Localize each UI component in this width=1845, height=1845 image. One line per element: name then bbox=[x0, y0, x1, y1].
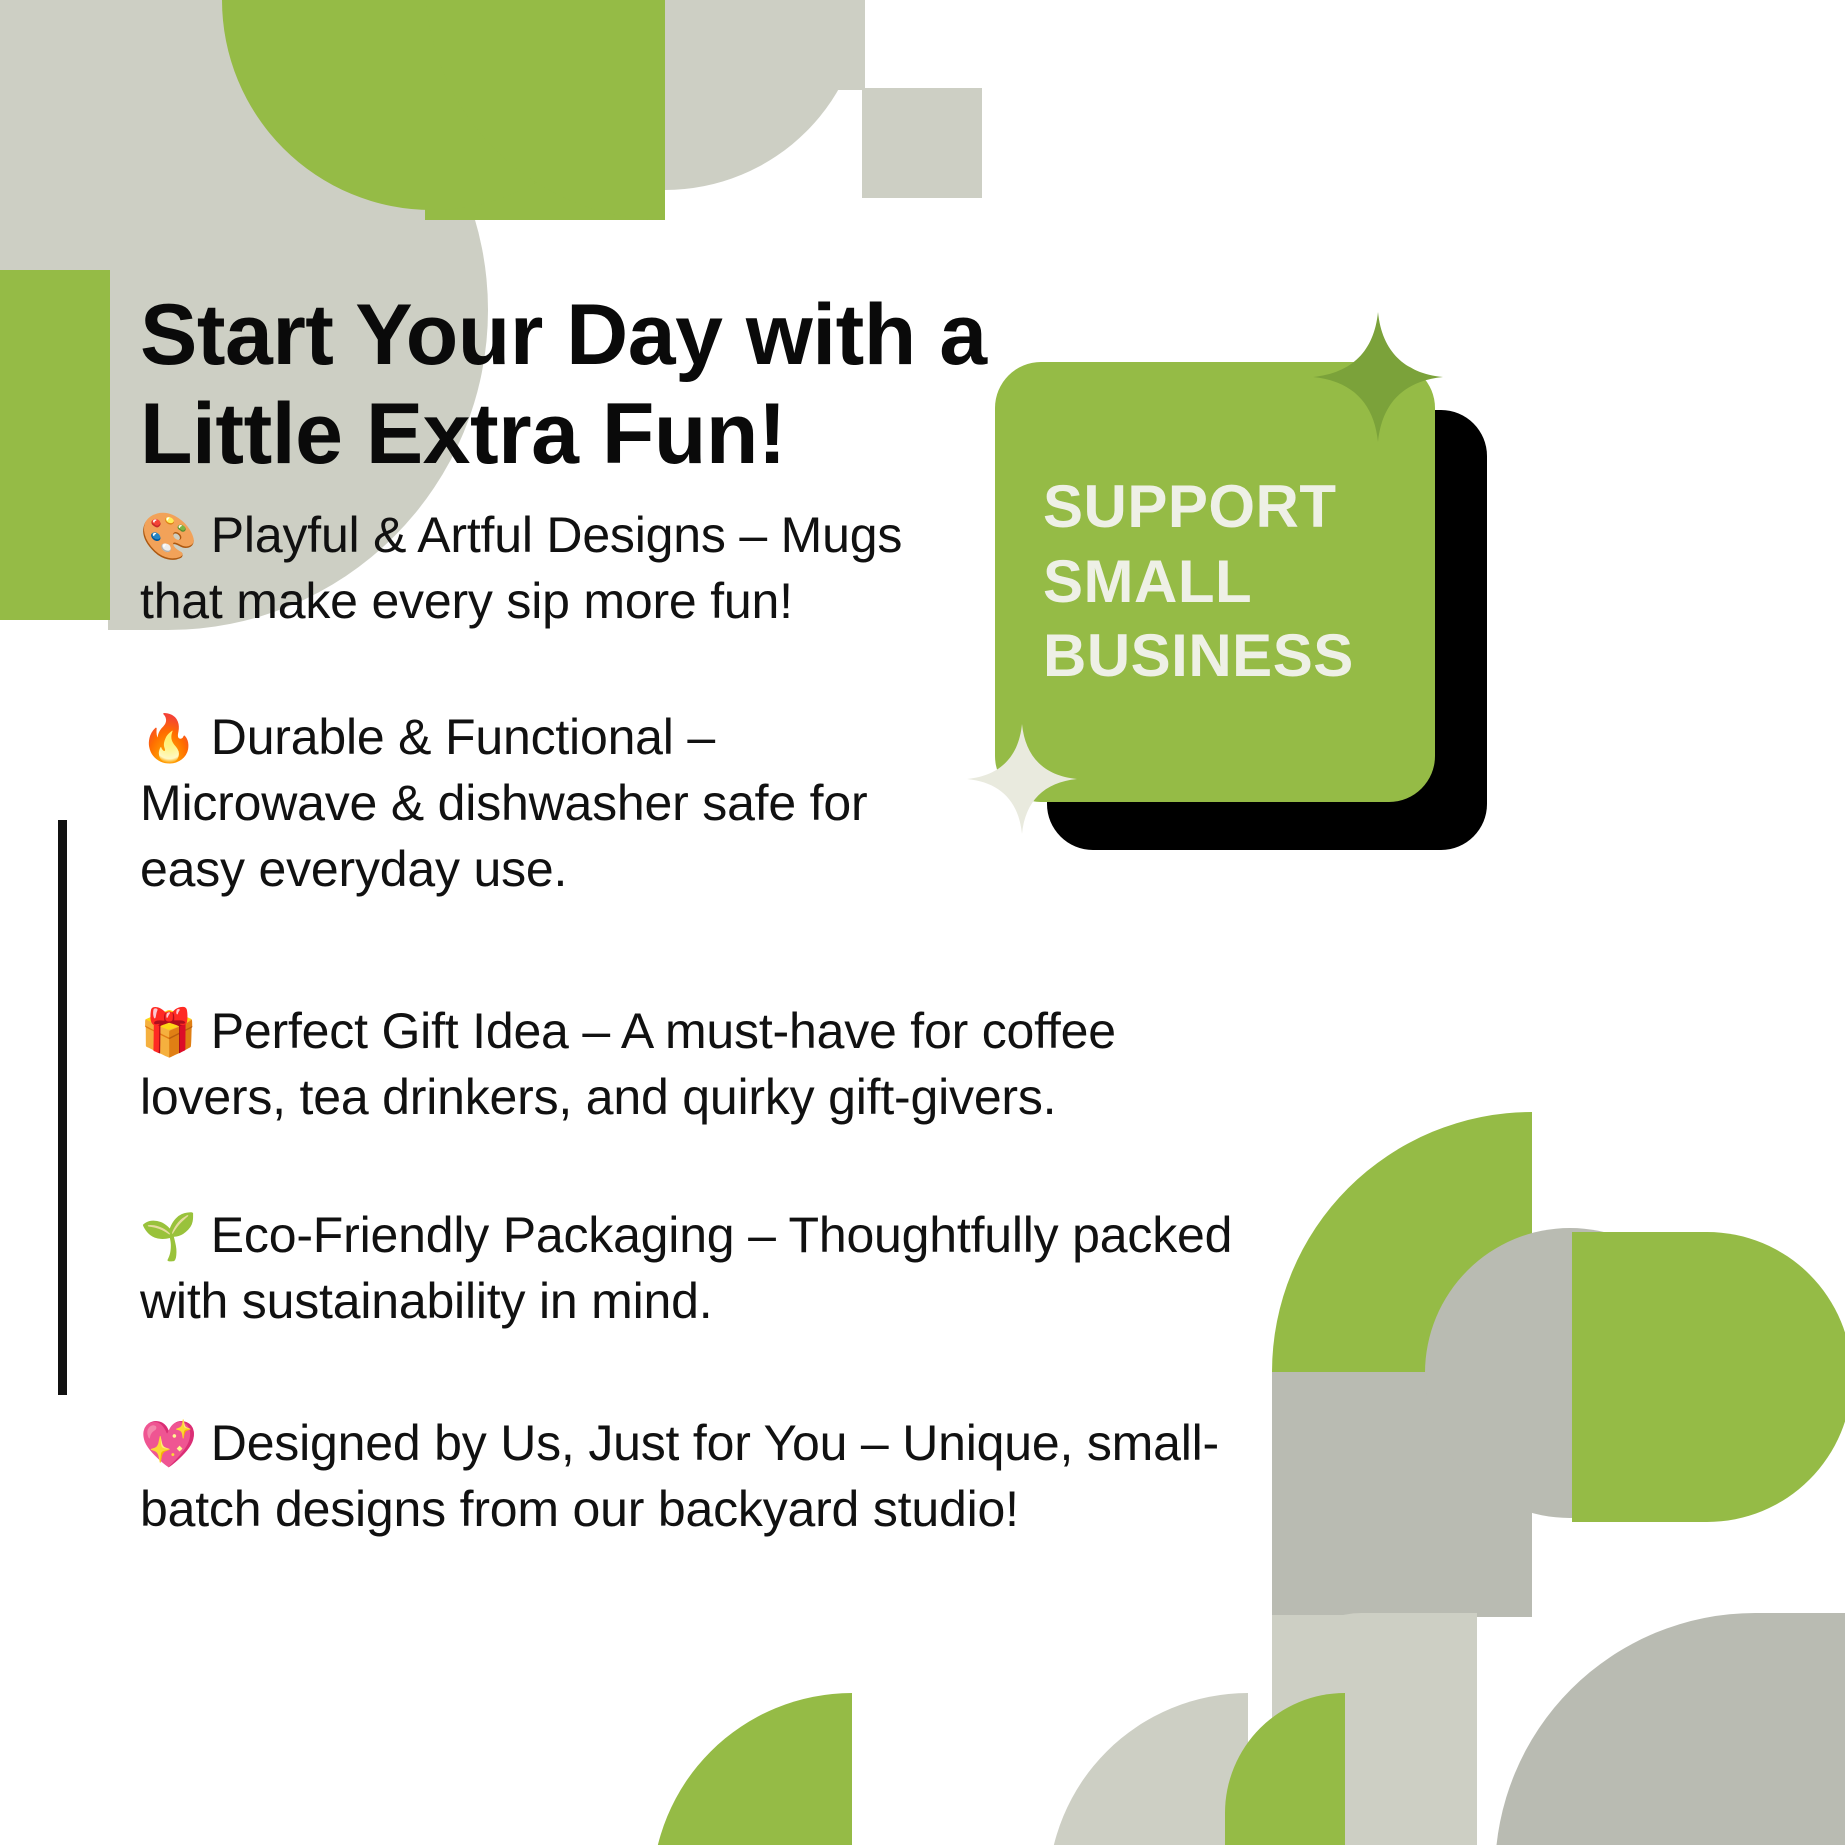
poster-canvas: Start Your Day with a Little Extra Fun! … bbox=[0, 0, 1845, 1845]
headline-line-1: Start Your Day with a bbox=[140, 286, 1120, 386]
support-small-business-badge: SUPPORT SMALL BUSINESS bbox=[985, 352, 1495, 862]
fire-emoji: 🔥 bbox=[140, 711, 197, 765]
list-item: 🌱 Eco-Friendly Packaging – Thoughtfully … bbox=[140, 1202, 1270, 1334]
sparkling-heart-emoji: 💖 bbox=[140, 1417, 197, 1471]
list-item: 🎨 Playful & Artful Designs – Mugs that m… bbox=[140, 502, 930, 634]
gift-emoji: 🎁 bbox=[140, 1005, 197, 1059]
seedling-emoji: 🌱 bbox=[140, 1209, 197, 1263]
list-item-text: Eco-Friendly Packaging – Thoughtfully pa… bbox=[140, 1207, 1232, 1329]
list-item: 🔥 Durable & Functional – Microwave & dis… bbox=[140, 704, 930, 902]
sparkle-icon bbox=[967, 724, 1077, 834]
badge-line-2: SMALL bbox=[1043, 545, 1435, 619]
artist-palette-emoji: 🎨 bbox=[140, 509, 197, 563]
poster-content: Start Your Day with a Little Extra Fun! … bbox=[0, 0, 1845, 1845]
list-item-text: Playful & Artful Designs – Mugs that mak… bbox=[140, 507, 902, 629]
list-item: 💖 Designed by Us, Just for You – Unique,… bbox=[140, 1410, 1260, 1542]
list-item-text: Perfect Gift Idea – A must-have for coff… bbox=[140, 1003, 1116, 1125]
list-item-text: Designed by Us, Just for You – Unique, s… bbox=[140, 1415, 1219, 1537]
sparkle-icon bbox=[1313, 312, 1443, 442]
list-item-text: Durable & Functional – Microwave & dishw… bbox=[140, 709, 867, 897]
list-item: 🎁 Perfect Gift Idea – A must-have for co… bbox=[140, 998, 1220, 1130]
badge-line-1: SUPPORT bbox=[1043, 470, 1435, 544]
badge-line-3: BUSINESS bbox=[1043, 619, 1435, 693]
